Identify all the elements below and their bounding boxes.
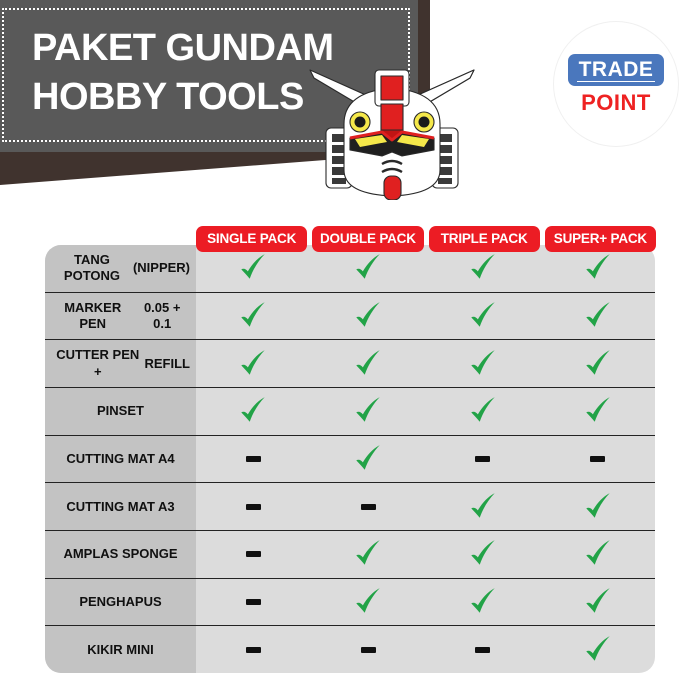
dash-icon: [246, 647, 261, 653]
dash-icon: [475, 456, 490, 462]
row-label: CUTTING MAT A4: [45, 436, 196, 483]
cell-excluded: [426, 626, 541, 673]
table-row: PINSET: [45, 388, 655, 436]
row-label-line-2: 0.05 + 0.1: [134, 300, 190, 333]
cell-included: [426, 579, 541, 626]
logo-point-text: POINT: [581, 92, 651, 114]
cell-included: [540, 340, 655, 387]
cell-excluded: [196, 436, 311, 483]
cell-included: [540, 293, 655, 340]
row-label-line-1: CUTTER PEN +: [51, 347, 145, 380]
check-icon: [583, 349, 613, 379]
dash-icon: [246, 551, 261, 557]
column-header-super-plus-pack[interactable]: SUPER+ PACK: [545, 226, 656, 252]
row-label: KIKIR MINI: [45, 626, 196, 673]
cell-included: [196, 340, 311, 387]
cell-included: [311, 579, 426, 626]
cell-excluded: [311, 483, 426, 530]
check-icon: [353, 539, 383, 569]
cell-included: [311, 436, 426, 483]
check-icon: [583, 301, 613, 331]
row-label: CUTTING MAT A3: [45, 483, 196, 530]
check-icon: [583, 539, 613, 569]
dash-icon: [361, 647, 376, 653]
dash-icon: [590, 456, 605, 462]
table-row: TANG POTONG(NIPPER): [45, 245, 655, 293]
cell-included: [426, 483, 541, 530]
cell-included: [196, 293, 311, 340]
table-row: CUTTING MAT A3: [45, 483, 655, 531]
column-header-single-pack[interactable]: SINGLE PACK: [196, 226, 307, 252]
cell-excluded: [196, 531, 311, 578]
cell-excluded: [196, 626, 311, 673]
cell-included: [540, 483, 655, 530]
cell-included: [311, 531, 426, 578]
check-icon: [583, 635, 613, 665]
row-label: CUTTER PEN +REFILL: [45, 340, 196, 387]
cell-included: [311, 245, 426, 292]
row-label: PENGHAPUS: [45, 579, 196, 626]
comparison-infographic: PAKET GUNDAM HOBBY TOOLS: [0, 0, 700, 700]
check-icon: [238, 396, 268, 426]
row-cells: [196, 340, 655, 387]
row-cells: [196, 293, 655, 340]
cell-included: [426, 531, 541, 578]
check-icon: [468, 587, 498, 617]
check-icon: [353, 301, 383, 331]
dash-icon: [246, 456, 261, 462]
cell-included: [426, 293, 541, 340]
row-label-line-1: CUTTING MAT A3: [66, 499, 174, 515]
cell-included: [311, 293, 426, 340]
table-row: CUTTER PEN +REFILL: [45, 340, 655, 388]
check-icon: [238, 301, 268, 331]
cell-included: [426, 340, 541, 387]
table-row: KIKIR MINI: [45, 626, 655, 673]
table-row: CUTTING MAT A4: [45, 436, 655, 484]
table-row: AMPLAS SPONGE: [45, 531, 655, 579]
row-cells: [196, 626, 655, 673]
row-cells: [196, 436, 655, 483]
cell-included: [540, 388, 655, 435]
cell-included: [311, 340, 426, 387]
check-icon: [238, 253, 268, 283]
check-icon: [583, 587, 613, 617]
cell-excluded: [540, 436, 655, 483]
row-label: MARKER PEN0.05 + 0.1: [45, 293, 196, 340]
table-row: MARKER PEN0.05 + 0.1: [45, 293, 655, 341]
row-label-line-2: REFILL: [145, 356, 191, 372]
row-cells: [196, 388, 655, 435]
check-icon: [468, 396, 498, 426]
column-header-triple-pack[interactable]: TRIPLE PACK: [429, 226, 540, 252]
cell-included: [540, 626, 655, 673]
table-row: PENGHAPUS: [45, 579, 655, 627]
check-icon: [468, 301, 498, 331]
check-icon: [583, 396, 613, 426]
check-icon: [353, 587, 383, 617]
row-label: PINSET: [45, 388, 196, 435]
cell-included: [426, 388, 541, 435]
brand-logo: TRADE POINT: [554, 22, 678, 146]
cell-excluded: [196, 579, 311, 626]
row-label: TANG POTONG(NIPPER): [45, 245, 196, 292]
column-header-double-pack[interactable]: DOUBLE PACK: [312, 226, 423, 252]
cell-excluded: [311, 626, 426, 673]
row-label-line-1: TANG POTONG: [51, 252, 133, 285]
cell-included: [540, 245, 655, 292]
check-icon: [468, 349, 498, 379]
row-label-line-1: PENGHAPUS: [79, 594, 161, 610]
dash-icon: [475, 647, 490, 653]
row-label-line-1: KIKIR MINI: [87, 642, 153, 658]
check-icon: [583, 253, 613, 283]
cell-excluded: [426, 436, 541, 483]
check-icon: [238, 349, 268, 379]
check-icon: [353, 396, 383, 426]
row-cells: [196, 531, 655, 578]
logo-trade-text: TRADE: [568, 54, 665, 86]
check-icon: [468, 539, 498, 569]
row-label-line-2: (NIPPER): [133, 260, 190, 276]
check-icon: [353, 349, 383, 379]
comparison-table: TANG POTONG(NIPPER)MARKER PEN0.05 + 0.1C…: [45, 245, 655, 673]
cell-included: [540, 531, 655, 578]
cell-included: [540, 579, 655, 626]
dash-icon: [246, 504, 261, 510]
row-label-line-1: AMPLAS SPONGE: [63, 546, 177, 562]
column-header-row: SINGLE PACK DOUBLE PACK TRIPLE PACK SUPE…: [196, 226, 656, 252]
row-cells: [196, 245, 655, 292]
check-icon: [468, 492, 498, 522]
cell-included: [196, 388, 311, 435]
check-icon: [583, 492, 613, 522]
row-label-line-1: MARKER PEN: [51, 300, 134, 333]
cell-included: [426, 245, 541, 292]
check-icon: [353, 444, 383, 474]
gundam-head-icon: [308, 52, 476, 200]
check-icon: [353, 253, 383, 283]
cell-included: [311, 388, 426, 435]
dash-icon: [361, 504, 376, 510]
cell-excluded: [196, 483, 311, 530]
dash-icon: [246, 599, 261, 605]
cell-included: [196, 245, 311, 292]
row-cells: [196, 579, 655, 626]
check-icon: [468, 253, 498, 283]
row-cells: [196, 483, 655, 530]
row-label: AMPLAS SPONGE: [45, 531, 196, 578]
row-label-line-1: CUTTING MAT A4: [66, 451, 174, 467]
row-label-line-1: PINSET: [97, 403, 144, 419]
